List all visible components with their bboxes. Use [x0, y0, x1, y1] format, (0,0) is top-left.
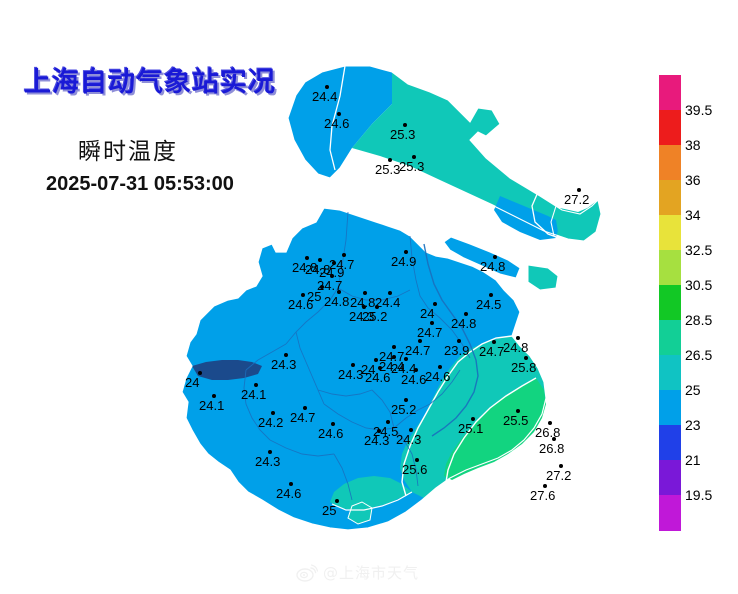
- station-value: 24: [420, 306, 434, 321]
- station-value: 24.1: [241, 387, 266, 402]
- station-value: 26.8: [539, 441, 564, 456]
- color-legend: 39.538363432.530.528.526.525232119.5: [659, 75, 681, 530]
- station-value: 24.3: [255, 454, 280, 469]
- station-value: 26.8: [535, 425, 560, 440]
- legend-band: [659, 110, 681, 146]
- legend-tick: 25: [685, 382, 701, 398]
- legend-tick: 39.5: [685, 102, 712, 118]
- legend-band: [659, 145, 681, 181]
- station-value: 24.3: [396, 432, 421, 447]
- legend-band: [659, 390, 681, 426]
- legend-band: [659, 215, 681, 251]
- station-value: 24.8: [324, 294, 349, 309]
- station-value: 24.3: [338, 367, 363, 382]
- station-value: 24.6: [401, 372, 426, 387]
- station-value: 24.6: [365, 370, 390, 385]
- station-value: 24.7: [290, 410, 315, 425]
- station-value: 25.2: [362, 309, 387, 324]
- station-value: 24.7: [417, 325, 442, 340]
- station-value: 24.9: [391, 254, 416, 269]
- station-value: 24.8: [292, 260, 317, 275]
- temperature-map: 24.424.625.325.325.327.224.824.724.724.9…: [0, 0, 640, 594]
- station-value: 24: [185, 375, 199, 390]
- station-value: 24.6: [288, 297, 313, 312]
- legend-band: [659, 425, 681, 461]
- station-value: 24.7: [479, 344, 504, 359]
- station-value: 24.1: [199, 398, 224, 413]
- legend-band: [659, 355, 681, 391]
- station-value: 25: [322, 503, 336, 518]
- legend-band: [659, 250, 681, 286]
- hengsha-island: [528, 265, 558, 290]
- legend-tick: 38: [685, 137, 701, 153]
- station-value: 24.8: [480, 259, 505, 274]
- legend-tick: 19.5: [685, 487, 712, 503]
- station-value: 24.8: [503, 340, 528, 355]
- legend-band: [659, 320, 681, 356]
- weibo-icon: [296, 564, 318, 582]
- legend-tick: 32.5: [685, 242, 712, 258]
- station-value: 24.7: [379, 349, 404, 364]
- watermark-handle: @上海市天气: [323, 562, 419, 583]
- station-value: 25.3: [375, 162, 400, 177]
- legend-tick: 28.5: [685, 312, 712, 328]
- station-value: 24.6: [425, 369, 450, 384]
- station-value: 27.6: [530, 488, 555, 503]
- station-value: 24.4: [312, 89, 337, 104]
- station-value: 24.6: [324, 116, 349, 131]
- station-value: 25.5: [503, 413, 528, 428]
- station-value: 24.6: [318, 426, 343, 441]
- station-value: 24.5: [476, 297, 501, 312]
- legend-band: [659, 75, 681, 111]
- legend-tick: 34: [685, 207, 701, 223]
- station-value: 24.3: [271, 357, 296, 372]
- legend-tick: 26.5: [685, 347, 712, 363]
- station-value: 27.2: [546, 468, 571, 483]
- legend-band: [659, 285, 681, 321]
- station-value: 25.3: [390, 127, 415, 142]
- legend-tick: 36: [685, 172, 701, 188]
- station-value: 27.2: [564, 192, 589, 207]
- legend-band: [659, 460, 681, 496]
- legend-band: [659, 495, 681, 531]
- station-value: 24.7: [405, 343, 430, 358]
- station-value: 24.2: [258, 415, 283, 430]
- legend-tick: 21: [685, 452, 701, 468]
- station-value: 25.2: [391, 402, 416, 417]
- watermark: @上海市天气: [296, 562, 419, 583]
- station-value: 24.8: [451, 316, 476, 331]
- legend-band: [659, 180, 681, 216]
- station-value: 24.9: [319, 265, 344, 280]
- legend-tick: 30.5: [685, 277, 712, 293]
- station-value: 25.6: [402, 462, 427, 477]
- station-value: 25.1: [458, 421, 483, 436]
- station-value: 24.3: [364, 433, 389, 448]
- station-value: 23.9: [444, 343, 469, 358]
- station-value: 25.8: [511, 360, 536, 375]
- station-value: 25.3: [399, 159, 424, 174]
- legend-tick: 23: [685, 417, 701, 433]
- station-value: 24.6: [276, 486, 301, 501]
